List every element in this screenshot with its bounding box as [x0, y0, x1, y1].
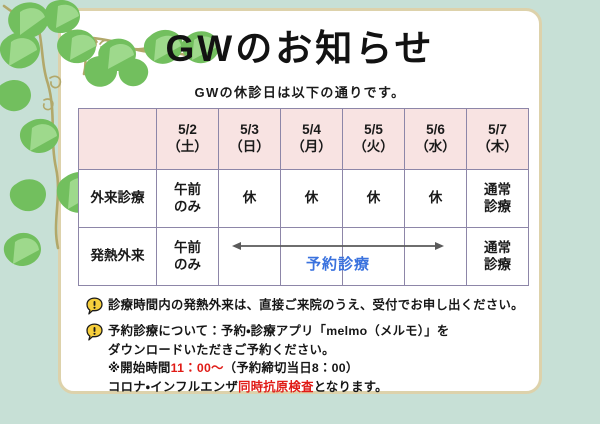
note-segment: （予約締切当日8：00） [224, 361, 359, 375]
note-segment: 予約診療について：予約・診療アプリ「melmo（メルモ）」を [108, 324, 449, 338]
date-text: 5/5 [343, 122, 404, 139]
note-segment: となります。 [314, 380, 388, 394]
header-cell-date: 5/7 （木） [467, 109, 529, 170]
schedule-cell: 通常 診療 [467, 228, 529, 286]
date-text: 5/7 [467, 122, 528, 139]
note-item: 予約診療について：予約・診療アプリ「melmo（メルモ）」を ダウンロードいただ… [86, 322, 536, 397]
weekday-text: （火） [343, 139, 404, 156]
note-line: ダウンロードいただきご予約ください。 [108, 341, 449, 360]
note-item: 診療時間内の発熱外来は、直接ご来院のうえ、受付でお申し出ください。 [86, 296, 536, 315]
schedule-cell: 通常 診療 [467, 170, 529, 228]
row-label-outpatient: 外来診療 [79, 170, 157, 228]
reservation-label: 予約診療 [232, 253, 444, 274]
cell-line2: のみ [157, 257, 218, 274]
weekday-text: （月） [281, 139, 342, 156]
date-text: 5/3 [219, 122, 280, 139]
note-line: ※開始時間11：00〜（予約締切当日8：00） [108, 359, 449, 378]
note-segment: ダウンロードいただきご予約ください。 [108, 343, 335, 357]
date-text: 5/6 [405, 122, 466, 139]
header-cell-date: 5/4 （月） [281, 109, 343, 170]
cell-line2: のみ [157, 199, 218, 216]
exclamation-bubble-icon [86, 297, 103, 315]
cell-line2: 診療 [467, 257, 528, 274]
header-cell-blank [79, 109, 157, 170]
note-segment-highlight: 11：00〜 [171, 361, 224, 375]
header-cell-date: 5/3 （日） [219, 109, 281, 170]
header-cell-date: 5/2 （土） [157, 109, 219, 170]
note-line: コロナ・インフルエンザ同時抗原検査となります。 [108, 378, 449, 397]
note-text: 診療時間内の発熱外来は、直接ご来院のうえ、受付でお申し出ください。 [108, 296, 524, 315]
note-segment-highlight: 同時抗原検査 [238, 380, 314, 394]
table-header-row: 5/2 （土） 5/3 （日） 5/4 （月） 5/5 （火） 5/6 （水 [79, 109, 529, 170]
schedule-cell-closed: 休 [343, 170, 405, 228]
note-segment: コロナ・インフルエンザ [108, 380, 238, 394]
date-text: 5/2 [157, 122, 218, 139]
weekday-text: （木） [467, 139, 528, 156]
schedule-cell: 午前 のみ [157, 228, 219, 286]
cell-line2: 診療 [467, 199, 528, 216]
note-text: 予約診療について：予約・診療アプリ「melmo（メルモ）」を ダウンロードいただ… [108, 322, 449, 397]
exclamation-bubble-icon [86, 323, 103, 341]
schedule-cell-closed: 休 [219, 170, 281, 228]
schedule-cell-closed: 休 [281, 170, 343, 228]
cell-line1: 通常 [467, 240, 528, 257]
weekday-text: （土） [157, 139, 218, 156]
cell-line1: 通常 [467, 182, 528, 199]
note-line: 予約診療について：予約・診療アプリ「melmo（メルモ）」を [108, 322, 449, 341]
weekday-text: （水） [405, 139, 466, 156]
note-segment: ※開始時間 [108, 361, 171, 375]
header-cell-date: 5/6 （水） [405, 109, 467, 170]
weekday-text: （日） [219, 139, 280, 156]
notes-section: 診療時間内の発熱外来は、直接ご来院のうえ、受付でお申し出ください。 予約診療につ… [86, 296, 536, 404]
notice-poster: GWのお知らせ GWの休診日は以下の通りです。 5/2 （土） 5/3 （日） … [0, 0, 600, 424]
date-text: 5/4 [281, 122, 342, 139]
cell-line1: 午前 [157, 182, 218, 199]
page-subtitle: GWの休診日は以下の通りです。 [58, 82, 542, 101]
schedule-cell: 午前 のみ [157, 170, 219, 228]
page-title: GWのお知らせ [58, 30, 542, 69]
note-line: 診療時間内の発熱外来は、直接ご来院のうえ、受付でお申し出ください。 [108, 296, 524, 315]
cell-line1: 午前 [157, 240, 218, 257]
row-label-fever-clinic: 発熱外来 [79, 228, 157, 286]
table-row: 外来診療 午前 のみ 休 休 休 休 通常 診療 [79, 170, 529, 228]
header-cell-date: 5/5 （火） [343, 109, 405, 170]
schedule-cell-closed: 休 [405, 170, 467, 228]
